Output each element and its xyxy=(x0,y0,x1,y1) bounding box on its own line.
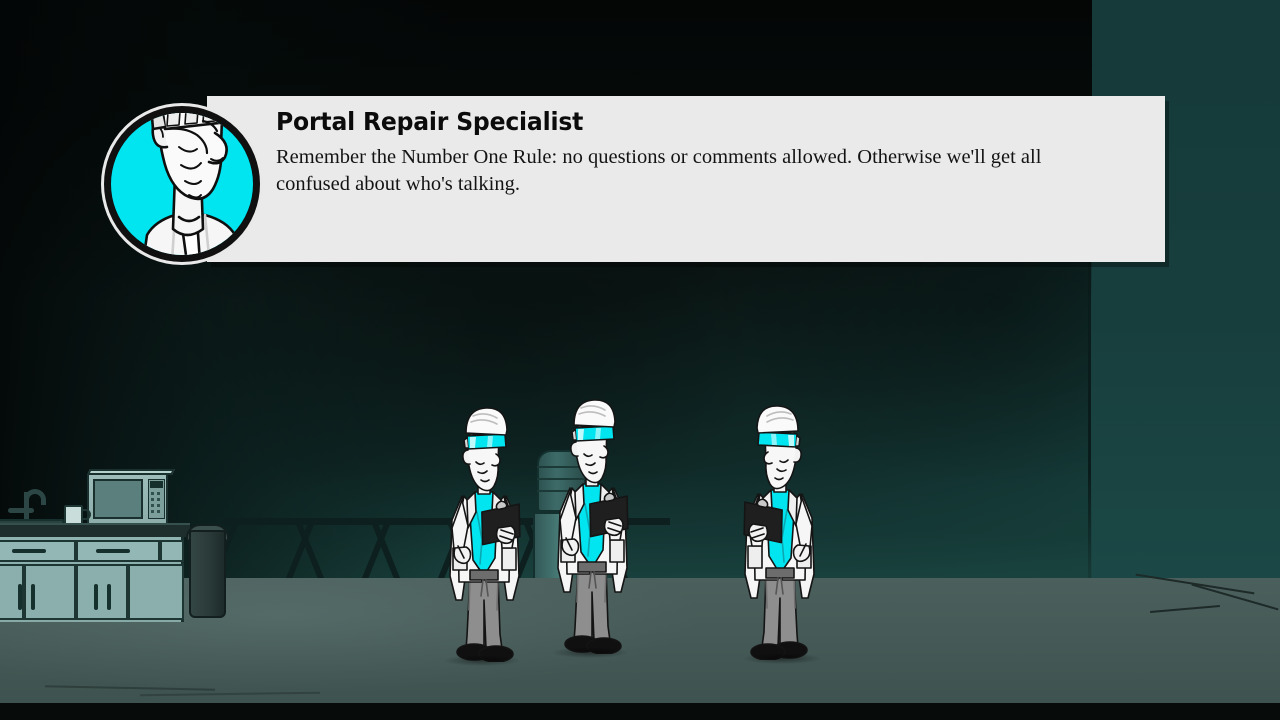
character-shadow xyxy=(744,653,820,664)
speaker-portrait xyxy=(104,106,260,262)
dialogue-text: Remember the Number One Rule: no questio… xyxy=(276,144,1084,198)
scientist-figure xyxy=(736,398,824,660)
letterbox-bottom xyxy=(0,703,1280,720)
trash-can xyxy=(189,530,226,618)
game-screen: Portal Repair Specialist Remember the Nu… xyxy=(0,0,1280,720)
scientist-figure xyxy=(440,400,528,662)
character-scientist-right[interactable] xyxy=(736,398,824,660)
counter-top xyxy=(0,523,190,537)
right-wall-panel xyxy=(1090,0,1280,578)
microwave-display xyxy=(150,481,163,488)
portrait-character xyxy=(111,106,260,262)
faucet-stem xyxy=(24,492,29,522)
character-shadow xyxy=(444,655,520,666)
speaker-name: Portal Repair Specialist xyxy=(276,108,1091,137)
scientist-figure xyxy=(548,392,636,654)
dialogue-box[interactable]: Portal Repair Specialist Remember the Nu… xyxy=(207,96,1165,262)
portrait-ring xyxy=(104,106,260,262)
character-scientist-middle[interactable] xyxy=(548,392,636,654)
microwave-window xyxy=(93,479,143,519)
character-shadow xyxy=(552,647,628,658)
character-scientist-left[interactable] xyxy=(440,400,528,662)
faucet-handle xyxy=(8,508,34,513)
